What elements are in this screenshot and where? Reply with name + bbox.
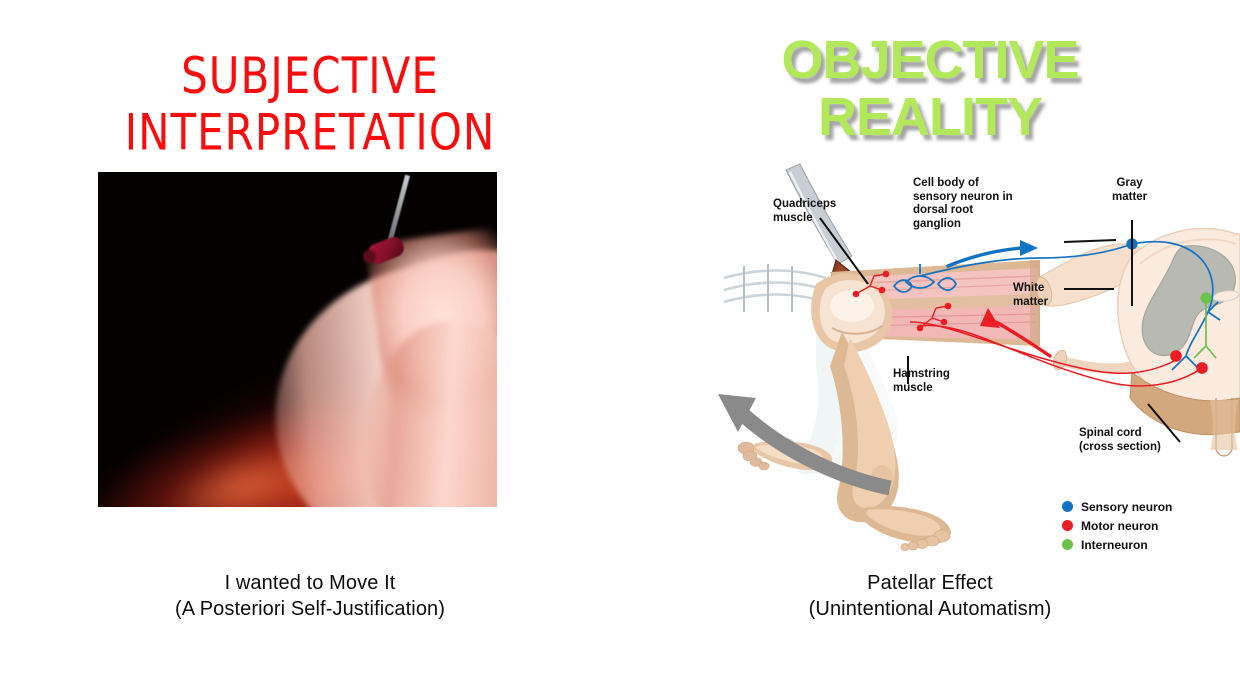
legend-item-sensory-neuron: Sensory neuron — [1062, 497, 1232, 516]
objective-caption: Patellar Effect (Unintentional Automatis… — [620, 570, 1240, 622]
neuron-legend: Sensory neuron Motor neuron Interneuron — [1062, 497, 1232, 554]
label-quadriceps-muscle: Quadriceps muscle — [773, 198, 836, 225]
objective-caption-line-2: (Unintentional Automatism) — [620, 596, 1240, 622]
objective-title-line-2: REALITY — [620, 89, 1240, 146]
interneuron-cell-body — [1200, 292, 1211, 303]
legend-item-motor-neuron: Motor neuron — [1062, 516, 1232, 535]
subjective-caption-line-2: (A Posteriori Self-Justification) — [0, 596, 620, 622]
objective-caption-line-1: Patellar Effect — [620, 570, 1240, 596]
label-hamstring-muscle: Hamstring muscle — [893, 368, 950, 395]
knee-reflex-photo — [98, 172, 497, 507]
legend-label-sensory-neuron: Sensory neuron — [1081, 500, 1172, 514]
objective-title: OBJECTIVE REALITY — [620, 32, 1240, 146]
subjective-caption-line-1: I wanted to Move It — [0, 570, 620, 596]
subjective-title: SUBJECTIVE INTERPRETATION — [0, 48, 620, 161]
motor-neuron-cell-body-2 — [1196, 362, 1208, 374]
hammer-motion-lines — [724, 264, 826, 312]
sensory-neuron-dot-icon — [1062, 501, 1073, 512]
legend-label-motor-neuron: Motor neuron — [1081, 519, 1158, 533]
legend-item-interneuron: Interneuron — [1062, 535, 1232, 554]
subjective-caption: I wanted to Move It (A Posteriori Self-J… — [0, 570, 620, 622]
label-white-matter: White matter — [1013, 282, 1048, 309]
leader-cell-body — [1064, 240, 1116, 242]
label-spinal-cord: Spinal cord (cross section) — [1079, 427, 1161, 454]
legend-label-interneuron: Interneuron — [1081, 538, 1148, 552]
label-sensory-cell-body: Cell body of sensory neuron in dorsal ro… — [913, 177, 1013, 231]
lower-leg-and-foot — [830, 332, 951, 551]
subjective-title-line-1: SUBJECTIVE — [0, 48, 620, 105]
spinal-cord-cross-section — [1118, 229, 1240, 456]
reflex-hammer-tip — [363, 250, 376, 263]
motor-neuron-dot-icon — [1062, 520, 1073, 531]
subjective-panel: SUBJECTIVE INTERPRETATION I wanted to Mo… — [0, 0, 620, 698]
objective-title-line-1: OBJECTIVE — [620, 32, 1240, 89]
interneuron-dot-icon — [1062, 539, 1073, 550]
objective-panel: OBJECTIVE REALITY — [620, 0, 1240, 698]
label-gray-matter: Gray matter — [1112, 177, 1147, 204]
motor-neuron-cell-body-1 — [1170, 350, 1182, 362]
subjective-title-line-2: INTERPRETATION — [0, 105, 620, 162]
